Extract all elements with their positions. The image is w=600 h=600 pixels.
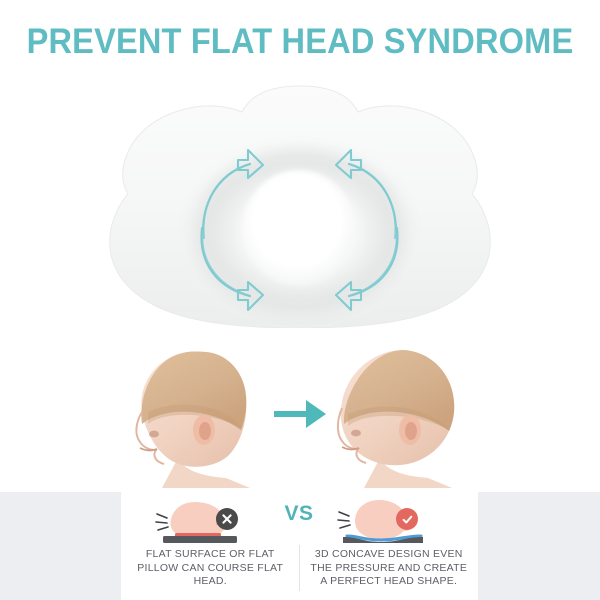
pillow-center-hole <box>243 170 355 286</box>
caption-right: 3D CONCAVE DESIGN EVEN THE PRESSURE AND … <box>300 548 479 596</box>
comparison-icon-row: VS <box>121 494 478 544</box>
vs-separator: VS <box>269 502 329 526</box>
baby-photo-round-head <box>320 338 470 488</box>
infographic-page: PREVENT FLAT HEAD SYNDROME <box>0 0 600 600</box>
concave-pillow-round-head-icon <box>329 494 441 544</box>
status-badge-negative <box>216 508 238 530</box>
cross-icon <box>221 513 233 525</box>
hero-section <box>0 70 600 332</box>
page-title: PREVENT FLAT HEAD SYNDROME <box>27 22 574 62</box>
baby-photo-flat-head <box>118 338 268 488</box>
title-banner: PREVENT FLAT HEAD SYNDROME <box>0 18 600 66</box>
caption-row: FLAT SURFACE OR FLAT PILLOW CAN COURSE F… <box>121 548 478 596</box>
motion-lines <box>338 512 350 528</box>
flat-pillow-flat-head-icon <box>149 494 261 544</box>
status-badge-positive <box>396 508 418 530</box>
caption-left: FLAT SURFACE OR FLAT PILLOW CAN COURSE F… <box>121 548 300 596</box>
baby-photo-comparison <box>0 332 600 494</box>
motion-lines <box>156 514 168 530</box>
check-icon <box>401 513 414 526</box>
caption-right-text: 3D CONCAVE DESIGN EVEN THE PRESSURE AND … <box>306 548 473 589</box>
pillow-product-image <box>100 78 500 328</box>
caption-left-text: FLAT SURFACE OR FLAT PILLOW CAN COURSE F… <box>127 548 294 589</box>
